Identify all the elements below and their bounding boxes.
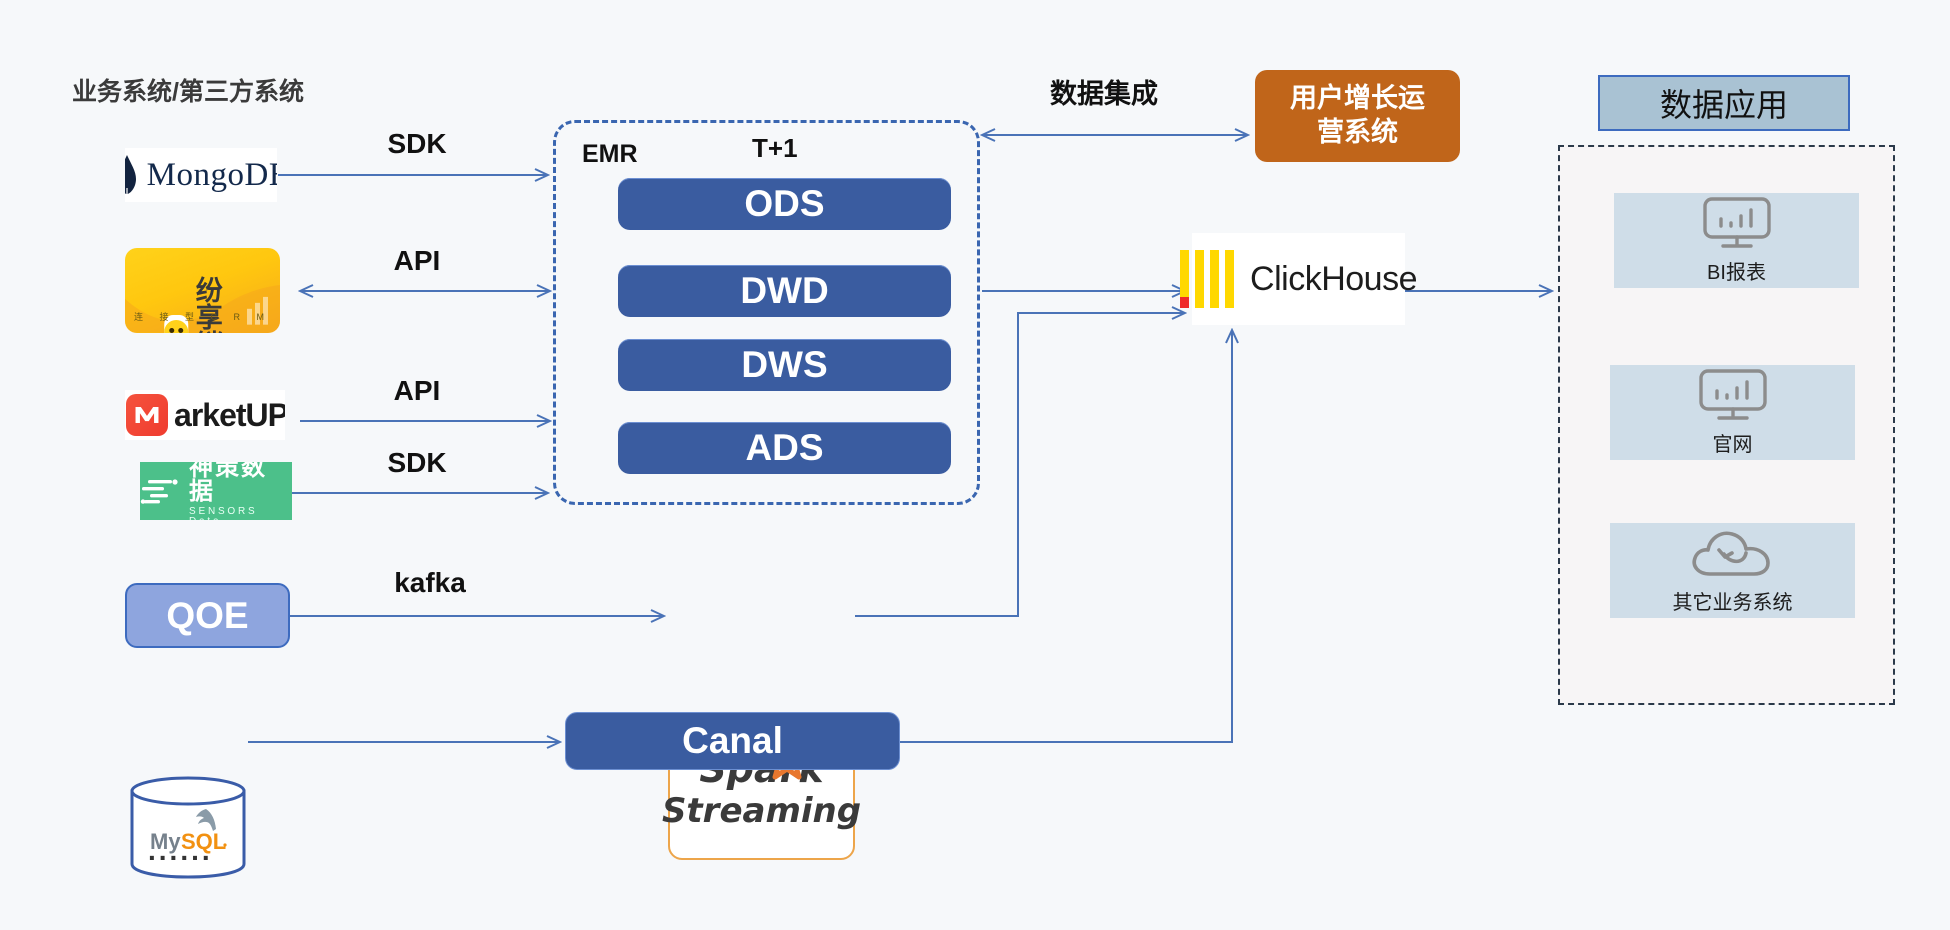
sensorsdata-sublabel: SENSORS Data: [189, 507, 292, 521]
edge-label-fxiaoke-api: API: [352, 245, 482, 277]
source-qoe[interactable]: QOE: [125, 583, 290, 648]
emr-layer-ods[interactable]: ODS: [618, 178, 951, 230]
mongodb-label: MongoDB: [147, 157, 277, 194]
sensorsdata-text: 神策数据 SENSORS Data: [189, 462, 292, 520]
spark-label-line2: Streaming: [662, 794, 861, 828]
fxiaoke-label: 纷享销客: [196, 278, 242, 333]
emr-layer-dws[interactable]: DWS: [618, 339, 951, 391]
app-card-official-site[interactable]: 官网: [1610, 365, 1855, 460]
edge-label-sensorsdata-sdk: SDK: [352, 447, 482, 479]
edge-label-qoe-kafka: kafka: [340, 567, 520, 599]
edge-label-mongodb-sdk: SDK: [352, 128, 482, 160]
integration-label: 数据集成: [1050, 72, 1158, 111]
app-card-other-business[interactable]: 其它业务系统: [1610, 523, 1855, 618]
emr-schedule-label: T+1: [752, 133, 798, 164]
growth-system-text: 用户增长运 营系统: [1290, 82, 1425, 150]
monitor-chart-icon: [1696, 368, 1770, 422]
source-sensorsdata[interactable]: 神策数据 SENSORS Data: [140, 462, 292, 520]
canal-node[interactable]: Canal: [565, 712, 900, 770]
clickhouse-node[interactable]: ClickHouse: [1192, 233, 1405, 325]
cloud-download-icon: [1688, 526, 1778, 580]
monitor-chart-icon: [1700, 196, 1774, 250]
app-card-bi-report[interactable]: BI报表: [1614, 193, 1859, 288]
source-marketup[interactable]: arketUP: [125, 390, 285, 440]
emr-layer-ads[interactable]: ADS: [618, 422, 951, 474]
growth-system-line1: 用户增长运: [1290, 83, 1425, 113]
clickhouse-label: ClickHouse: [1250, 260, 1417, 299]
emr-layer-dwd[interactable]: DWD: [618, 265, 951, 317]
edge-label-marketup-api: API: [352, 375, 482, 407]
app-card-official-site-label: 官网: [1713, 428, 1753, 457]
growth-system-node[interactable]: 用户增长运 营系统: [1255, 70, 1460, 162]
left-section-title: 业务系统/第三方系统: [72, 72, 304, 108]
app-card-other-business-label: 其它业务系统: [1673, 586, 1793, 615]
source-mongodb[interactable]: MongoDB: [125, 148, 277, 202]
fxiaoke-sublabel: 连 接 型 C R M: [134, 310, 271, 323]
sensorsdata-label: 神策数据: [189, 462, 292, 504]
marketup-label: arketUP: [174, 397, 285, 434]
emr-title: EMR: [582, 140, 638, 169]
clickhouse-bars-icon: [1180, 250, 1234, 308]
mongodb-leaf-icon: [125, 155, 137, 195]
data-app-panel-title: 数据应用: [1598, 75, 1850, 131]
marketup-mark-icon: [126, 394, 168, 436]
more-sources-ellipsis: ......: [148, 835, 213, 867]
diagram-canvas: 业务系统/第三方系统 MongoDB SDK 纷享销客 连 接 型 C R M …: [0, 0, 1950, 930]
source-fxiaoke[interactable]: 纷享销客 连 接 型 C R M: [125, 248, 280, 333]
sensorsdata-mark-icon: [140, 476, 180, 506]
app-card-bi-report-label: BI报表: [1707, 256, 1766, 285]
fxiaoke-brand: 纷享销客: [164, 278, 242, 333]
growth-system-line2: 营系统: [1317, 117, 1398, 147]
